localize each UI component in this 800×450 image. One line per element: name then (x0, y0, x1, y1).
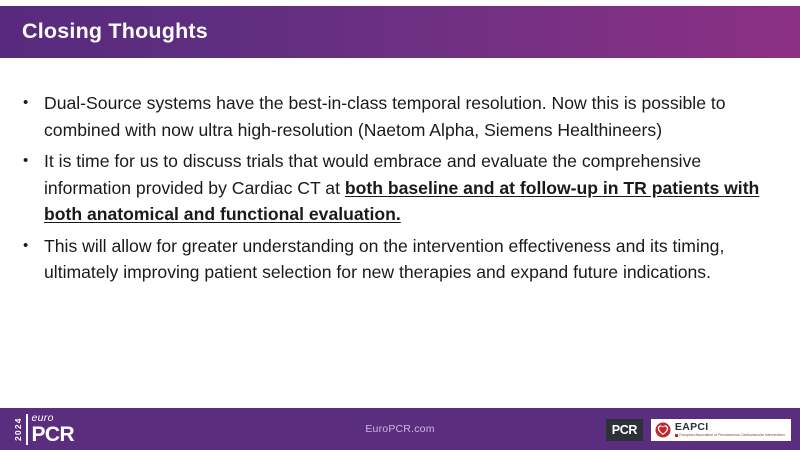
bullet-text-1: Dual-Source systems have the best-in-cla… (44, 93, 726, 140)
eapci-subtitle: European Association of Percutaneous Car… (679, 434, 785, 437)
eapci-bullet-icon (675, 434, 678, 437)
list-item: This will allow for greater understandin… (18, 233, 778, 286)
slide-root: Closing Thoughts Dual-Source systems hav… (0, 0, 800, 450)
bullet-list: Dual-Source systems have the best-in-cla… (18, 90, 778, 286)
list-item: It is time for us to discuss trials that… (18, 148, 778, 228)
eapci-wordmark: EAPCI European Association of Percutaneo… (675, 422, 785, 437)
slide-body: Dual-Source systems have the best-in-cla… (0, 62, 800, 402)
list-item: Dual-Source systems have the best-in-cla… (18, 90, 778, 143)
heart-icon (655, 422, 671, 438)
footer-partner-logos: PCR EAPCI European Association of Percut… (606, 419, 791, 441)
eapci-subtitle-row: European Association of Percutaneous Car… (675, 433, 785, 438)
bullet-text-3: This will allow for greater understandin… (44, 236, 724, 283)
pcr-logo: PCR (606, 419, 643, 441)
slide-title-bar: Closing Thoughts (0, 6, 800, 58)
eapci-name: EAPCI (675, 422, 785, 433)
eapci-logo: EAPCI European Association of Percutaneo… (651, 419, 791, 441)
page-title: Closing Thoughts (22, 21, 208, 43)
